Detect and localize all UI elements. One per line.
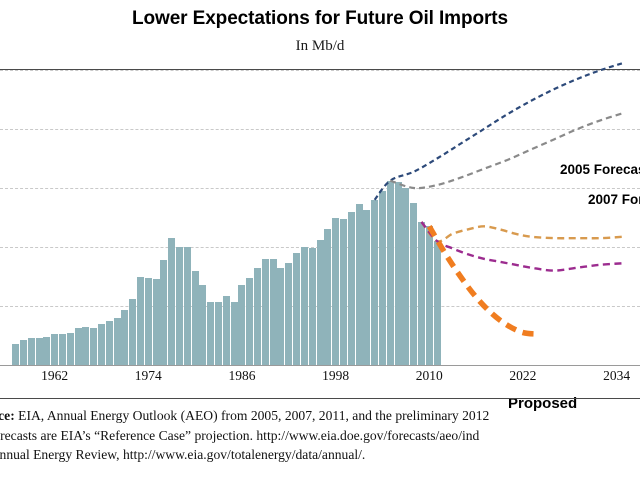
chart-plot-area: 2005 Forecast 2007 Forecast Proposed [0, 70, 640, 370]
source-label: ource: [0, 408, 15, 423]
series-label-2007-forecast: 2007 Forecast [588, 192, 640, 207]
source-line-3: A Annual Energy Review, http://www.eia.g… [0, 445, 640, 465]
x-axis-tick-1974: 1974 [135, 368, 162, 384]
x-axis-tick-2022: 2022 [509, 368, 536, 384]
x-axis-ticks: 1962197419861998201020222034 [0, 368, 640, 388]
series-label-2005-forecast: 2005 Forecast [560, 162, 640, 177]
chart-header: Lower Expectations for Future Oil Import… [0, 0, 640, 70]
x-axis-tick-2034: 2034 [603, 368, 630, 384]
source-line-2: r, forecasts are EIA’s “Reference Case” … [0, 426, 640, 446]
forecast-line-2011-forecast [421, 222, 624, 242]
chart-page: Lower Expectations for Future Oil Import… [0, 0, 640, 480]
x-axis-tick-1962: 1962 [41, 368, 68, 384]
forecast-line-proposed [429, 226, 538, 334]
source-note: ource: EIA, Annual Energy Outlook (AEO) … [0, 406, 640, 465]
x-axis-tick-1986: 1986 [228, 368, 255, 384]
footer-divider [0, 398, 640, 399]
forecast-line-series [0, 70, 640, 370]
x-axis-line [0, 365, 640, 366]
page-title: Lower Expectations for Future Oil Import… [0, 8, 640, 30]
x-axis-tick-1998: 1998 [322, 368, 349, 384]
x-axis-tick-2010: 2010 [416, 368, 443, 384]
chart-subtitle: In Mb/d [0, 38, 640, 55]
source-line-1-text: EIA, Annual Energy Outlook (AEO) from 20… [15, 408, 490, 423]
forecast-line-2005-forecast [375, 63, 625, 200]
source-line-1: ource: EIA, Annual Energy Outlook (AEO) … [0, 406, 640, 426]
